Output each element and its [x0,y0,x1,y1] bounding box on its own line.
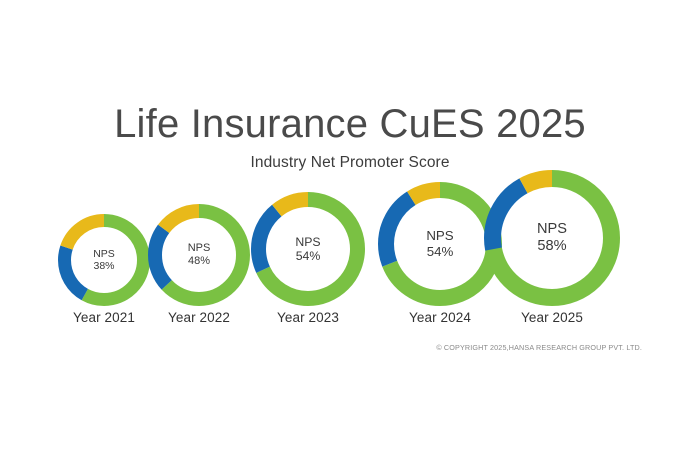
copyright-notice: © COPYRIGHT 2025,HANSA RESEARCH GROUP PV… [436,343,642,352]
year-label-year-2025: Year 2025 [492,310,612,325]
year-label-row: Year 2021Year 2022Year 2023Year 2024Year… [0,310,700,330]
donut-ring: NPS58% [482,168,622,308]
year-label-year-2024: Year 2024 [380,310,500,325]
donut-ring: NPS54% [249,190,367,308]
donut-ring: NPS38% [56,212,152,308]
donut-chart-row: NPS38%NPS48%NPS54%NPS54%NPS58% [0,168,700,308]
infographic-canvas: Life Insurance CuES 2025 Industry Net Pr… [0,0,700,468]
donut-chart-year-2023: NPS54% [249,190,367,308]
page-title: Life Insurance CuES 2025 [0,103,700,145]
year-label-year-2023: Year 2023 [248,310,368,325]
donut-ring: NPS48% [146,202,252,308]
donut-chart-year-2025: NPS58% [482,168,622,308]
donut-chart-year-2022: NPS48% [146,202,252,308]
donut-chart-year-2021: NPS38% [56,212,152,308]
year-label-year-2022: Year 2022 [139,310,259,325]
header: Life Insurance CuES 2025 Industry Net Pr… [0,103,700,172]
